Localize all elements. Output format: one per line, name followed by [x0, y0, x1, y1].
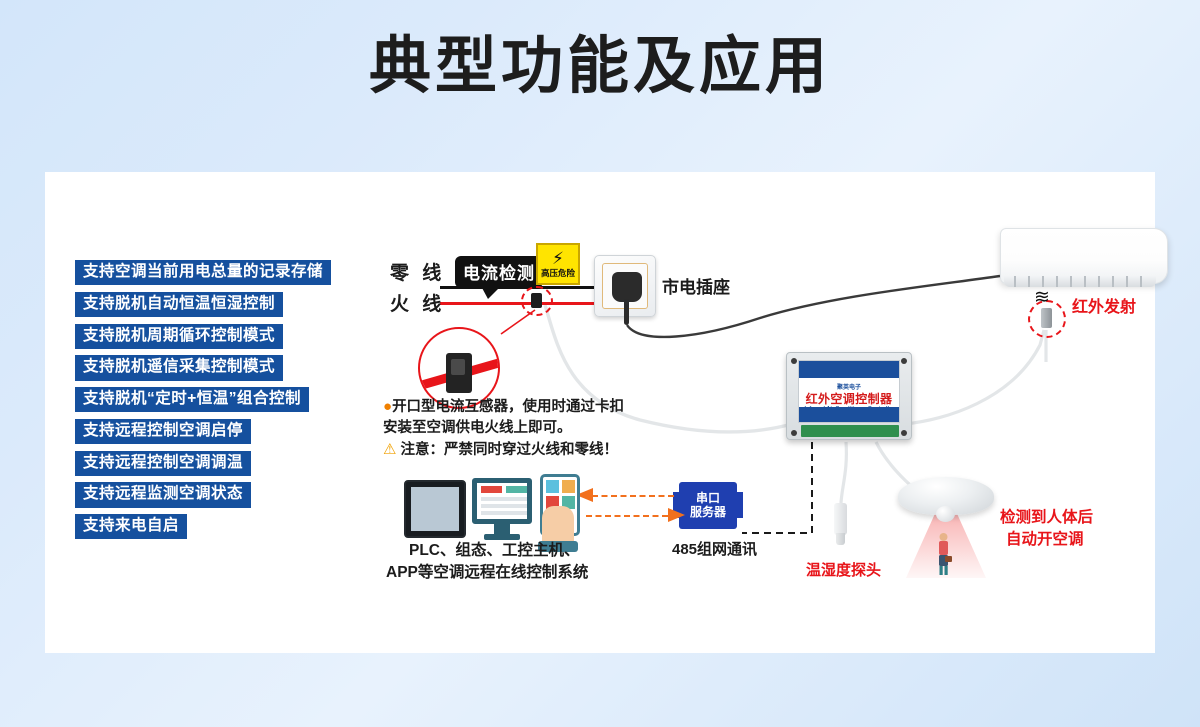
note-text-3: 注意：严禁同时穿过火线和零线！ — [400, 442, 618, 458]
mounting-screw — [901, 430, 907, 436]
serial-server-caption: 485组网通讯 — [672, 541, 757, 560]
mounting-screw — [791, 430, 797, 436]
probe-tip — [836, 533, 845, 545]
warning-triangle-icon: ⚠ — [383, 441, 396, 458]
installation-notes: ●开口型电流互感器，使用时通过卡扣 安装至空调供电火线上即可。 ⚠ 注意：严禁同… — [383, 396, 673, 461]
air-conditioner-vent — [1004, 276, 1156, 287]
socket-label: 市电插座 — [662, 277, 730, 298]
live-wire-label: 火 线 — [390, 293, 445, 317]
note-line-1: ●开口型电流互感器，使用时通过卡扣 — [383, 396, 673, 418]
feature-list: 支持空调当前用电总量的记录存储 支持脱机自动恒温恒湿控制 支持脱机周期循环控制模… — [75, 260, 405, 546]
feature-item: 支持远程控制空调启停 — [75, 419, 251, 444]
high-voltage-label: 高压危险 — [541, 267, 575, 279]
mounting-screw — [901, 358, 907, 364]
temperature-humidity-probe — [834, 503, 847, 535]
feature-item: 支持远程控制空调调温 — [75, 451, 251, 476]
serial-server-line1: 串口 — [696, 492, 720, 505]
high-voltage-warning-sign: ⚡ 高压危险 — [536, 243, 580, 285]
feature-item: 支持空调当前用电总量的记录存储 — [75, 260, 331, 285]
human-sensor-label-line2: 自动开空调 — [1006, 530, 1084, 549]
terminal-block — [801, 425, 899, 437]
feature-item: 支持脱机遥信采集控制模式 — [75, 355, 283, 380]
feature-item: 支持远程监测空调状态 — [75, 482, 251, 507]
power-plug — [612, 272, 642, 302]
infrared-label: 红外发射 — [1072, 298, 1136, 318]
controller-top-band — [799, 361, 899, 378]
serial-server-device: 串口 服务器 — [679, 482, 737, 529]
arrow-host-to-serial — [586, 515, 668, 517]
plug-cord — [624, 299, 629, 325]
desktop-monitor — [472, 478, 532, 524]
feature-item: 支持脱机周期循环控制模式 — [75, 324, 283, 349]
current-detection-tooltip: 电流检测 — [455, 256, 543, 288]
arrow-head-right — [668, 508, 685, 522]
controller-name: 红外空调控制器 — [799, 390, 899, 407]
arrow-serial-to-host — [592, 495, 674, 497]
serial-server-line2: 服务器 — [690, 506, 726, 519]
feature-item: 支持来电自启 — [75, 514, 187, 539]
ir-signal-icon: ≋ — [1034, 286, 1050, 309]
monitor-stand — [494, 524, 510, 534]
note-line-3: ⚠ 注意：严禁同时穿过火线和零线！ — [383, 439, 673, 461]
bullet-icon: ● — [383, 398, 392, 415]
infrared-ac-controller: 聚英电子 红外空调控制器 Infrared Air Conditioner Co… — [786, 352, 912, 440]
ir-emitter-device — [1041, 308, 1052, 328]
note-text-2: 安装至空调供电火线上即可。 — [383, 418, 673, 439]
industrial-pc — [404, 480, 466, 538]
controller-faceplate: 聚英电子 红外空调控制器 Infrared Air Conditioner Co… — [798, 360, 900, 423]
sensor-lens — [936, 506, 955, 522]
feature-item: 支持脱机“定时+恒温”组合控制 — [75, 387, 309, 412]
controller-subtitle: Infrared Air Conditioner Controller — [799, 406, 899, 412]
host-systems-label-line1: PLC、组态、工控主机、 — [409, 541, 580, 560]
lightning-bolt-icon: ⚡ — [552, 250, 564, 267]
neutral-wire-label: 零 线 — [390, 262, 445, 286]
ct-clamp-sensor — [531, 293, 542, 308]
mounting-screw — [791, 358, 797, 364]
note-text-1: 开口型电流互感器，使用时通过卡扣 — [392, 399, 624, 415]
person-figure-icon — [934, 532, 953, 576]
page-title: 典型功能及应用 — [0, 34, 1200, 99]
host-systems-label-line2: APP等空调远程在线控制系统 — [386, 563, 588, 582]
feature-item: 支持脱机自动恒温恒湿控制 — [75, 292, 283, 317]
human-sensor-label-line1: 检测到人体后 — [1000, 508, 1093, 527]
probe-label: 温湿度探头 — [806, 562, 881, 581]
monitor-base — [484, 534, 520, 540]
